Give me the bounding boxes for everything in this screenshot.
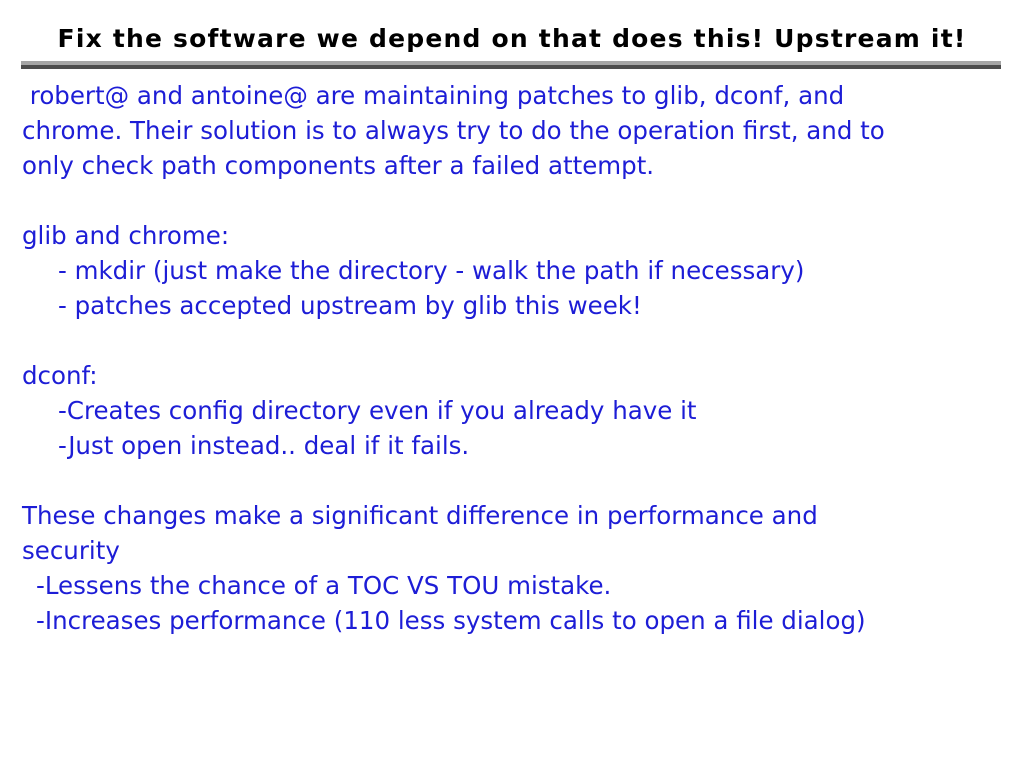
intro-line-3: only check path components after a faile… — [22, 148, 997, 183]
intro-line-1: robert@ and antoine@ are maintaining pat… — [22, 78, 997, 113]
spacer-2 — [22, 323, 997, 358]
section-impact-bullet-2: -Increases performance (110 less system … — [22, 603, 997, 638]
section-dconf-bullet-1: -Creates config directory even if you al… — [22, 393, 997, 428]
section-impact: These changes make a significant differe… — [22, 498, 997, 638]
section-impact-line-1: These changes make a significant differe… — [22, 498, 997, 533]
section-glib-bullet-2: - patches accepted upstream by glib this… — [22, 288, 997, 323]
section-impact-bullet-1: -Lessens the chance of a TOC VS TOU mist… — [22, 568, 997, 603]
spacer-3 — [22, 463, 997, 498]
title-divider-bottom — [21, 65, 1001, 69]
title-divider — [21, 61, 1001, 69]
section-dconf-bullet-2: -Just open instead.. deal if it fails. — [22, 428, 997, 463]
section-impact-line-2: security — [22, 533, 997, 568]
page-title: Fix the software we depend on that does … — [0, 24, 1024, 54]
section-glib: glib and chrome: - mkdir (just make the … — [22, 218, 997, 323]
slide-body: robert@ and antoine@ are maintaining pat… — [22, 78, 997, 638]
section-glib-bullet-1: - mkdir (just make the directory - walk … — [22, 253, 997, 288]
intro-paragraph: robert@ and antoine@ are maintaining pat… — [22, 78, 997, 183]
slide-root: Fix the software we depend on that does … — [0, 0, 1024, 768]
section-dconf-heading: dconf: — [22, 358, 997, 393]
section-glib-heading: glib and chrome: — [22, 218, 997, 253]
spacer-1 — [22, 183, 997, 218]
section-dconf: dconf: -Creates config directory even if… — [22, 358, 997, 463]
intro-line-2: chrome. Their solution is to always try … — [22, 113, 997, 148]
